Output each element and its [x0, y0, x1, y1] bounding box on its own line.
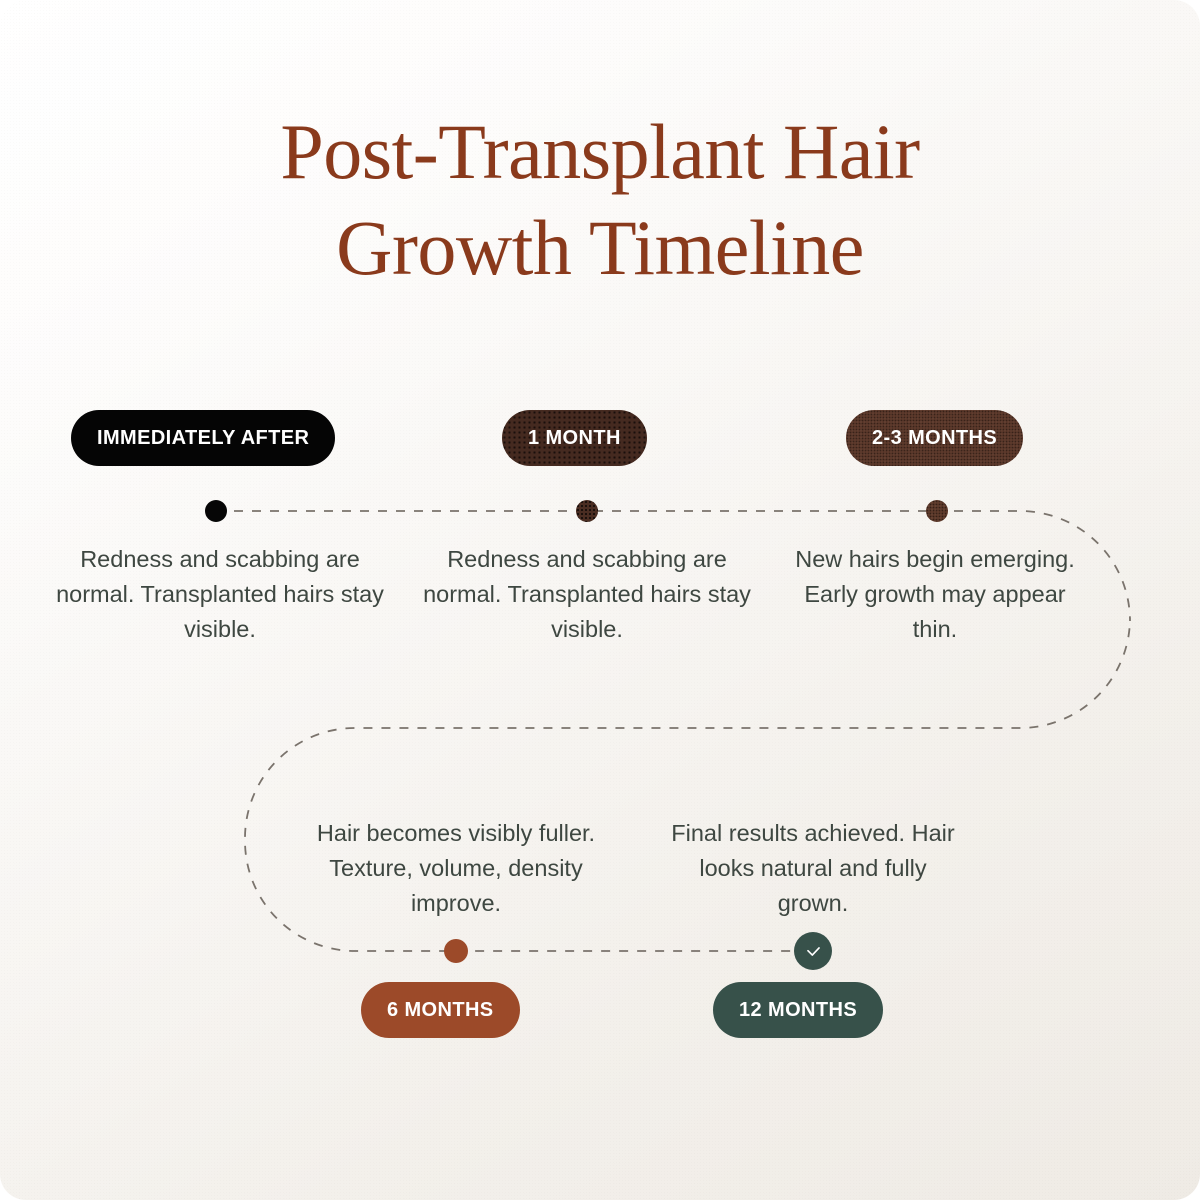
stage-description-4: Hair becomes visibly fuller. Texture, vo…	[306, 816, 606, 921]
stage-description-3: New hairs begin emerging. Early growth m…	[790, 542, 1080, 647]
page-title-line-2: Growth Timeline	[0, 200, 1200, 296]
timeline-marker-5-check	[794, 932, 832, 970]
infographic-canvas: Post-Transplant Hair Growth Timeline IMM…	[0, 0, 1200, 1200]
stage-description-1: Redness and scabbing are normal. Transpl…	[55, 542, 385, 647]
stage-pill-label-4: 6 MONTHS	[387, 999, 494, 1022]
timeline-marker-1	[205, 500, 227, 522]
stage-description-5: Final results achieved. Hair looks natur…	[663, 816, 963, 921]
check-icon	[804, 942, 823, 961]
stage-pill-label-5: 12 MONTHS	[739, 999, 857, 1022]
stage-pill-12-months[interactable]: 12 MONTHS	[713, 982, 883, 1038]
page-title: Post-Transplant Hair Growth Timeline	[0, 104, 1200, 296]
timeline-marker-2	[576, 500, 598, 522]
timeline-marker-4	[444, 939, 468, 963]
stage-pill-label-2: 1 MONTH	[528, 427, 621, 450]
stage-pill-label-3: 2-3 MONTHS	[872, 427, 997, 450]
stage-description-2: Redness and scabbing are normal. Transpl…	[422, 542, 752, 647]
page-title-line-1: Post-Transplant Hair	[0, 104, 1200, 200]
stage-pill-2-3-months[interactable]: 2-3 MONTHS	[846, 410, 1023, 466]
stage-pill-label-1: IMMEDIATELY AFTER	[97, 427, 309, 450]
stage-pill-immediately-after[interactable]: IMMEDIATELY AFTER	[71, 410, 335, 466]
timeline-marker-3	[926, 500, 948, 522]
stage-pill-1-month[interactable]: 1 MONTH	[502, 410, 647, 466]
stage-pill-6-months[interactable]: 6 MONTHS	[361, 982, 520, 1038]
